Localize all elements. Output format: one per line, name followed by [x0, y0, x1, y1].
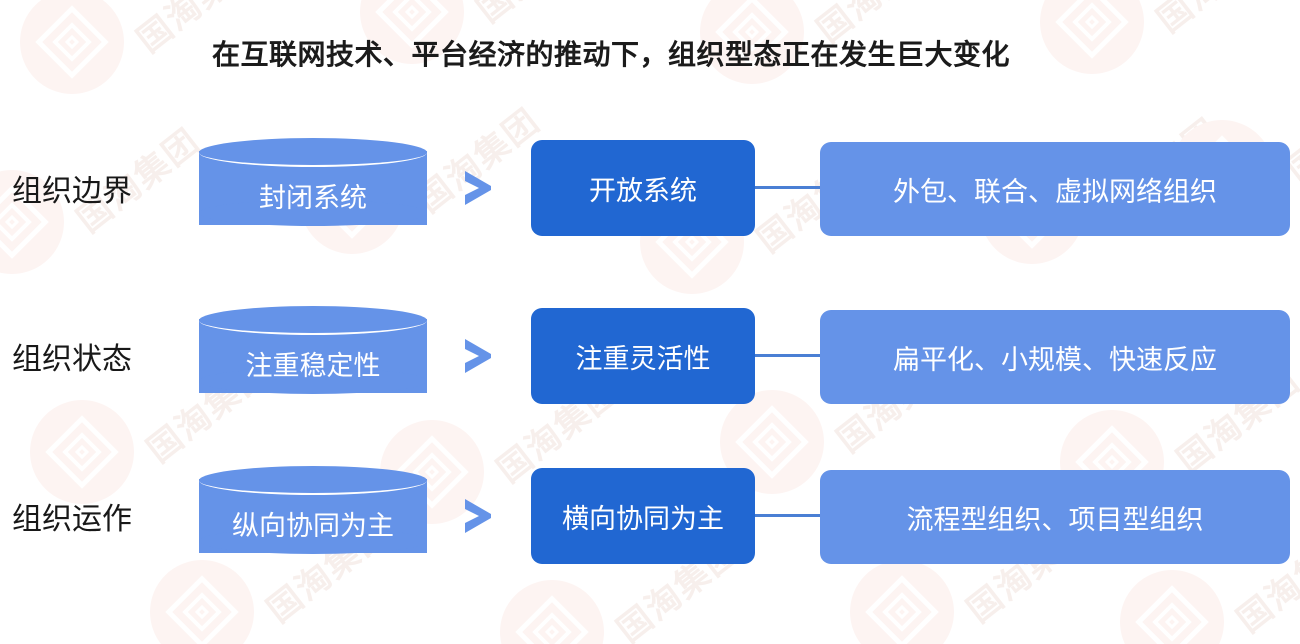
watermark-badge-icon: [1120, 570, 1224, 644]
cylinder-icon-before-state: 纵向协同为主: [199, 466, 427, 566]
watermark-diamond-icon: [1135, 585, 1209, 644]
before-state-label: 纵向协同为主: [199, 466, 427, 566]
watermark-diamond-icon: [35, 5, 109, 79]
row-label-organization-state: 组织状态: [12, 296, 187, 416]
before-state-label: 封闭系统: [199, 138, 427, 238]
before-state-label: 注重稳定性: [199, 306, 427, 406]
after-state-box[interactable]: 横向协同为主: [531, 468, 755, 564]
after-state-box[interactable]: 注重灵活性: [531, 308, 755, 404]
watermark-diamond-icon: [165, 575, 239, 644]
detail-box[interactable]: 扁平化、小规模、快速反应: [820, 310, 1290, 404]
diagram-row: 组织运作 纵向协同为主 横向协同为主 流程型组织、项目型组织: [0, 456, 1300, 576]
chevron-right-icon: [461, 169, 495, 207]
watermark-text: 国淘集团: [465, 0, 609, 32]
connector-line: [755, 186, 821, 189]
detail-box[interactable]: 外包、联合、虚拟网络组织: [820, 142, 1290, 236]
diagram-row: 组织边界 封闭系统 开放系统 外包、联合、虚拟网络组织: [0, 128, 1300, 248]
watermark-logo: 国淘集团: [1040, 0, 1300, 90]
watermark-badge-icon: [1040, 0, 1144, 74]
after-state-box[interactable]: 开放系统: [531, 140, 755, 236]
diagram-row: 组织状态 注重稳定性 注重灵活性 扁平化、小规模、快速反应: [0, 296, 1300, 416]
detail-box[interactable]: 流程型组织、项目型组织: [820, 470, 1290, 564]
watermark-badge-icon: [500, 580, 604, 644]
chevron-right-icon: [461, 497, 495, 535]
watermark-diamond-icon: [1055, 0, 1129, 59]
connector-line: [755, 354, 821, 357]
connector-line: [755, 514, 821, 517]
watermark-diamond-icon: [515, 595, 589, 644]
cylinder-icon-before-state: 注重稳定性: [199, 306, 427, 406]
watermark-text: 国淘集团: [1145, 0, 1289, 42]
row-label-organization-boundary: 组织边界: [12, 128, 187, 248]
row-label-organization-operation: 组织运作: [12, 456, 187, 576]
cylinder-icon-before-state: 封闭系统: [199, 138, 427, 238]
watermark-logo: 国淘集团: [1120, 570, 1300, 644]
watermark-badge-icon: [20, 0, 124, 94]
watermark-logo: 国淘集团: [500, 580, 800, 644]
chevron-right-icon: [461, 337, 495, 375]
watermark-diamond-icon: [865, 575, 939, 644]
page-title: 在互联网技术、平台经济的推动下，组织型态正在发生巨大变化: [212, 33, 1010, 73]
